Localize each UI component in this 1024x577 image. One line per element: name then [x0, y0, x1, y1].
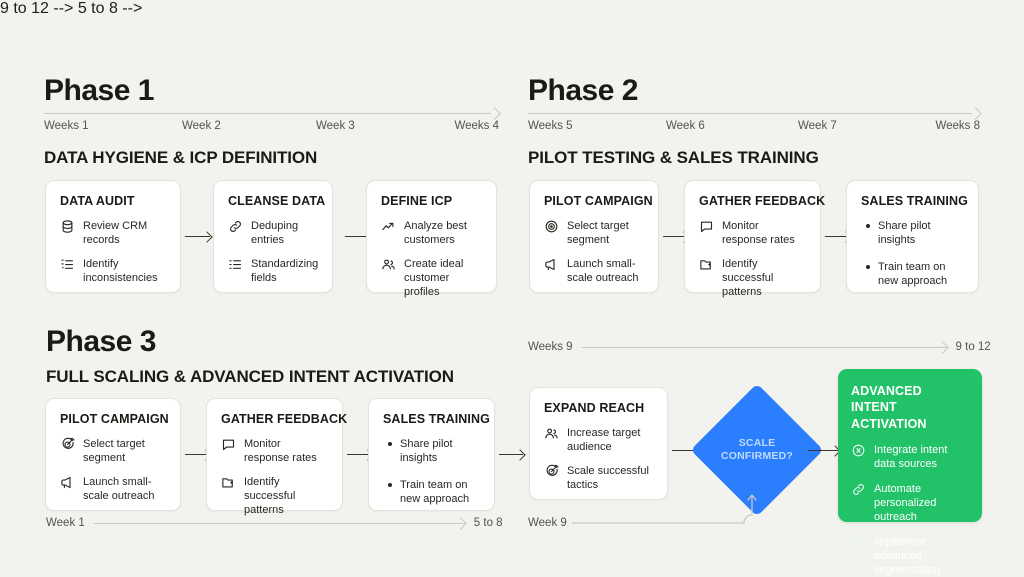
list-icon — [228, 257, 243, 272]
card-item: Select target segment — [544, 219, 644, 247]
sparkle-icon — [851, 535, 866, 550]
phase-2-title: Phase 2 — [528, 74, 638, 108]
phase-1-timeline: Weeks 1 Week 2 Week 3 Weeks 4 — [44, 113, 499, 143]
dart-icon — [544, 464, 559, 479]
timeline-tick: Weeks 8 — [935, 120, 980, 132]
timeline-tick: Week 2 — [182, 120, 221, 132]
card-advanced-intent-activation[interactable]: ADVANCED INTENT ACTIVATION Integrate int… — [838, 369, 982, 522]
card-item: Create ideal customer profiles — [381, 257, 482, 299]
card-data-audit[interactable]: DATA AUDIT Review CRM records Identify — [45, 180, 181, 293]
ruler-line — [94, 523, 465, 524]
card-title: SALES TRAINING — [383, 412, 480, 426]
phase-2-subtitle: PILOT TESTING & SALES TRAINING — [528, 148, 819, 168]
link-icon — [851, 482, 866, 497]
users-icon — [381, 257, 396, 272]
card-items: Share pilot insights Train team on new a… — [383, 437, 480, 506]
card-sales-training-p3[interactable]: SALES TRAINING Share pilot insights Trai… — [368, 398, 495, 511]
card-sales-training-p2[interactable]: SALES TRAINING Share pilot insights Trai… — [846, 180, 979, 293]
card-title: CLEANSE DATA — [228, 194, 318, 208]
timeline-tick: Week 3 — [316, 120, 355, 132]
ruler-line — [582, 347, 947, 348]
card-title: SALES TRAINING — [861, 194, 964, 208]
timeline-tick: Week 7 — [798, 120, 837, 132]
card-expand-reach[interactable]: EXPAND REACH Increase target audience — [529, 387, 668, 500]
chat-icon — [221, 437, 236, 452]
card-pilot-campaign-p3[interactable]: PILOT CAMPAIGN Select target segment La — [45, 398, 181, 511]
card-item-text: Deduping entries — [251, 219, 318, 247]
card-item-text: Implement advanced segmentation — [874, 535, 969, 577]
card-item-text: Launch small-scale outreach — [83, 475, 166, 503]
timeline-line — [44, 113, 491, 114]
data-source-icon — [851, 443, 866, 458]
timeline-arrowhead — [488, 107, 501, 120]
card-item: Increase target audience — [544, 426, 653, 454]
card-item: Standardizing fields — [228, 257, 318, 285]
phase-3-title: Phase 3 — [46, 325, 156, 359]
card-item: Identify inconsistencies — [60, 257, 166, 285]
card-item-text: Identify successful patterns — [722, 257, 806, 299]
ruler-start-label: Week 9 — [528, 517, 567, 529]
card-item: Analyze best customers — [381, 219, 482, 247]
users-icon — [544, 426, 559, 441]
card-item: Automate personalized outreach — [851, 482, 969, 524]
dart-icon — [60, 437, 75, 452]
card-items: Analyze best customers Create ideal cust… — [381, 219, 482, 299]
megaphone-icon — [544, 257, 559, 272]
card-item: Launch small-scale outreach — [60, 475, 166, 503]
ruler-start-label: Week 1 — [46, 517, 85, 529]
card-pilot-campaign-p2[interactable]: PILOT CAMPAIGN Select target segment Lau… — [529, 180, 659, 293]
card-item: Share pilot insights — [864, 219, 964, 248]
card-title: PILOT CAMPAIGN — [544, 194, 644, 208]
phase-2-timeline: Weeks 5 Week 6 Week 7 Weeks 8 — [528, 113, 980, 143]
card-item-text: Select target segment — [83, 437, 166, 465]
card-item: Train team on new approach — [864, 260, 964, 289]
card-title: EXPAND REACH — [544, 401, 653, 415]
link-icon — [228, 219, 243, 234]
ruler-end-label: 5 to 8 — [474, 517, 503, 529]
card-item: Scale successful tactics — [544, 464, 653, 492]
card-gather-feedback-p3[interactable]: GATHER FEEDBACK Monitor response rates I… — [206, 398, 343, 511]
card-define-icp[interactable]: DEFINE ICP Analyze best customers Creat — [366, 180, 497, 293]
decision-label-line1: SCALE — [739, 437, 776, 449]
card-item-text: Analyze best customers — [404, 219, 482, 247]
list-check-icon — [60, 257, 75, 272]
card-gather-feedback-p2[interactable]: GATHER FEEDBACK Monitor response rates I… — [684, 180, 821, 293]
card-item: Monitor response rates — [221, 437, 328, 465]
timeline-tick: Weeks 4 — [454, 120, 499, 132]
card-item: Implement advanced segmentation — [851, 535, 969, 577]
folder-icon — [699, 257, 714, 272]
card-item: Launch small-scale outreach — [544, 257, 644, 285]
folder-icon — [221, 475, 236, 490]
arrow-connector — [185, 236, 210, 237]
timeline-line — [528, 113, 972, 114]
card-items: Monitor response rates Identify successf… — [221, 437, 328, 517]
ruler-end-label: 9 to 12 — [956, 341, 991, 353]
card-items: Review CRM records Identify inconsistenc… — [60, 219, 166, 285]
card-items: Integrate intent data sources Automate p… — [851, 443, 969, 577]
card-item: Select target segment — [60, 437, 166, 465]
card-items: Select target segment Launch small-scale… — [60, 437, 166, 503]
card-item: Identify successful patterns — [221, 475, 328, 517]
card-item: Train team on new approach — [386, 478, 480, 507]
chat-icon — [699, 219, 714, 234]
card-title: GATHER FEEDBACK — [221, 412, 328, 426]
phase-3-top-ruler: Weeks 9 9 to 12 — [528, 341, 991, 353]
database-icon — [60, 219, 75, 234]
card-cleanse-data[interactable]: CLEANSE DATA Deduping entries Standardi — [213, 180, 333, 293]
card-item-text: Increase target audience — [567, 426, 653, 454]
arrow-connector — [808, 450, 838, 451]
phase-3-bottom-left-ruler: Week 1 5 to 8 — [46, 517, 503, 529]
target-icon — [544, 219, 559, 234]
card-title: GATHER FEEDBACK — [699, 194, 806, 208]
card-title: DEFINE ICP — [381, 194, 482, 208]
card-items: Monitor response rates Identify successf… — [699, 219, 806, 299]
card-item-text: Launch small-scale outreach — [567, 257, 644, 285]
timeline-arrowhead — [969, 107, 982, 120]
phase-3-bottom-right-ruler: Week 9 — [528, 517, 567, 529]
ruler-start-label: Weeks 9 — [528, 341, 573, 353]
card-item: Deduping entries — [228, 219, 318, 247]
timeline-tick: Week 6 — [666, 120, 705, 132]
card-item-text: Monitor response rates — [244, 437, 328, 465]
timeline-tick: Weeks 1 — [44, 120, 89, 132]
card-item: Identify successful patterns — [699, 257, 806, 299]
card-items: Increase target audience Scale successfu… — [544, 426, 653, 492]
megaphone-icon — [60, 475, 75, 490]
card-item-text: Create ideal customer profiles — [404, 257, 482, 299]
card-title: ADVANCED INTENT ACTIVATION — [851, 383, 969, 432]
card-title: DATA AUDIT — [60, 194, 166, 208]
card-item: Share pilot insights — [386, 437, 480, 466]
card-item-text: Select target segment — [567, 219, 644, 247]
card-item-text: Identify successful patterns — [244, 475, 328, 517]
timeline-tick: Weeks 5 — [528, 120, 573, 132]
decision-label-line2: CONFIRMED? — [721, 450, 793, 462]
phase-1-title: Phase 1 — [44, 74, 154, 108]
card-item-text: Standardizing fields — [251, 257, 318, 285]
card-item-text: Scale successful tactics — [567, 464, 653, 492]
decision-diamond-label: SCALE CONFIRMED? — [697, 437, 817, 463]
phase-3-subtitle: FULL SCALING & ADVANCED INTENT ACTIVATIO… — [46, 367, 454, 387]
card-items: Select target segment Launch small-scale… — [544, 219, 644, 285]
card-items: Share pilot insights Train team on new a… — [861, 219, 964, 288]
card-items: Deduping entries Standardizing fields — [228, 219, 318, 285]
phase-1-subtitle: DATA HYGIENE & ICP DEFINITION — [44, 148, 317, 168]
card-item-text: Integrate intent data sources — [874, 443, 969, 471]
card-item-text: Review CRM records — [83, 219, 166, 247]
card-item-text: Automate personalized outreach — [874, 482, 969, 524]
card-title: PILOT CAMPAIGN — [60, 412, 166, 426]
roadmap-canvas: Phase 1 Weeks 1 Week 2 Week 3 Weeks 4 DA… — [0, 0, 1024, 572]
card-item: Monitor response rates — [699, 219, 806, 247]
trend-up-icon — [381, 219, 396, 234]
card-item: Review CRM records — [60, 219, 166, 247]
arrow-connector — [499, 454, 523, 455]
card-item: Integrate intent data sources — [851, 443, 969, 471]
card-item-text: Identify inconsistencies — [83, 257, 166, 285]
card-item-text: Monitor response rates — [722, 219, 806, 247]
